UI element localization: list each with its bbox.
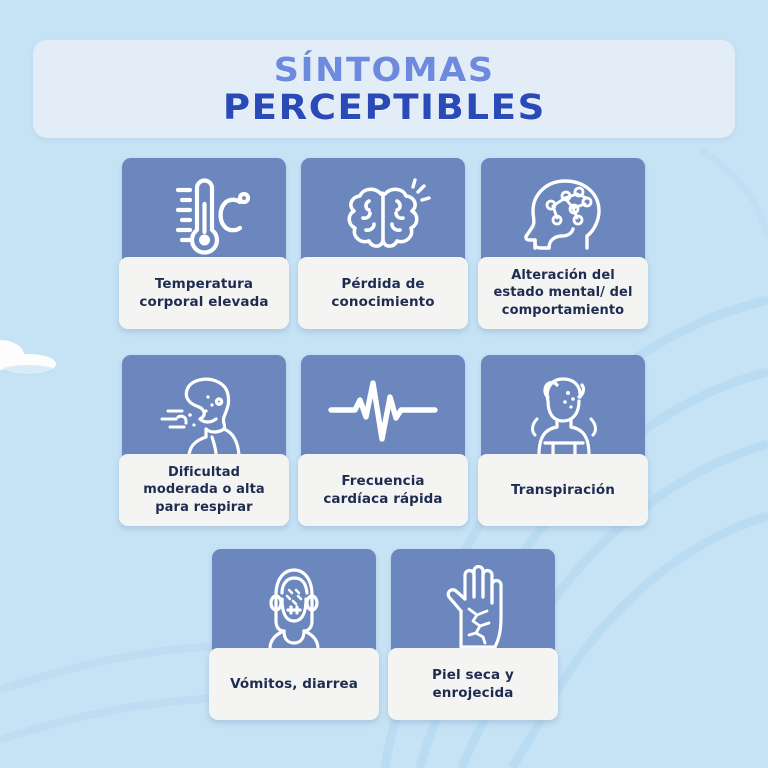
dry-cracked-hand-icon	[425, 565, 521, 649]
card-label-panel: Alteración delestado mental/ delcomporta…	[478, 257, 648, 329]
symptom-card-perdida-de-conocimiento[interactable]: Pérdida deconocimiento	[301, 158, 465, 329]
thermometer-celsius-icon	[156, 174, 252, 258]
symptom-card-temperatura-corporal-elevada[interactable]: Temperaturacorporal elevada	[122, 158, 286, 329]
card-label-text: Vómitos, diarrea	[230, 675, 358, 693]
card-icon-tile	[301, 158, 465, 273]
card-label-panel: Pérdida deconocimiento	[298, 257, 468, 329]
card-icon-tile	[481, 355, 645, 470]
card-label-panel: Vómitos, diarrea	[209, 648, 379, 720]
card-label-text: Dificultadmoderada o altapara respirar	[143, 464, 265, 517]
sweating-person-icon	[515, 371, 611, 455]
header-banner: SÍNTOMAS PERCEPTIBLES	[33, 40, 735, 138]
symptom-card-alteracion-estado-mental[interactable]: Alteración delestado mental/ delcomporta…	[481, 158, 645, 329]
symptom-card-vomitos-diarrea[interactable]: Vómitos, diarrea	[212, 549, 376, 720]
symptom-card-piel-seca-enrojecida[interactable]: Piel seca yenrojecida	[391, 549, 555, 720]
card-icon-tile	[301, 355, 465, 470]
brain-icon	[335, 174, 431, 258]
card-label-panel: Transpiración	[478, 454, 648, 526]
card-label-text: Transpiración	[511, 481, 615, 499]
card-icon-tile	[481, 158, 645, 273]
page-title-line-1: SÍNTOMAS	[274, 53, 495, 86]
card-icon-tile	[122, 158, 286, 273]
infographic-canvas: SÍNTOMAS PERCEPTIBLES	[0, 0, 768, 768]
page-title-line-2: PERCEPTIBLES	[222, 91, 545, 126]
card-label-panel: Dificultadmoderada o altapara respirar	[119, 454, 289, 526]
cloud-icon	[0, 337, 80, 379]
card-icon-tile	[122, 355, 286, 470]
symptom-card-transpiracion[interactable]: Transpiración	[481, 355, 645, 526]
card-icon-tile	[212, 549, 376, 664]
symptom-card-dificultad-para-respirar[interactable]: Dificultadmoderada o altapara respirar	[122, 355, 286, 526]
card-label-panel: Temperaturacorporal elevada	[119, 257, 289, 329]
card-label-panel: Frecuenciacardíaca rápida	[298, 454, 468, 526]
card-icon-tile	[391, 549, 555, 664]
card-label-panel: Piel seca yenrojecida	[388, 648, 558, 720]
card-label-text: Pérdida deconocimiento	[331, 275, 434, 311]
card-label-text: Frecuenciacardíaca rápida	[323, 472, 442, 508]
head-neural-network-icon	[515, 174, 611, 258]
person-breathing-difficulty-icon	[156, 371, 252, 455]
heartbeat-ecg-icon	[327, 377, 439, 449]
card-label-text: Piel seca yenrojecida	[432, 666, 514, 702]
symptom-card-frecuencia-cardiaca-rapida[interactable]: Frecuenciacardíaca rápida	[301, 355, 465, 526]
card-label-text: Temperaturacorporal elevada	[139, 275, 268, 311]
sick-woman-face-icon	[246, 565, 342, 649]
card-label-text: Alteración delestado mental/ delcomporta…	[493, 267, 632, 320]
